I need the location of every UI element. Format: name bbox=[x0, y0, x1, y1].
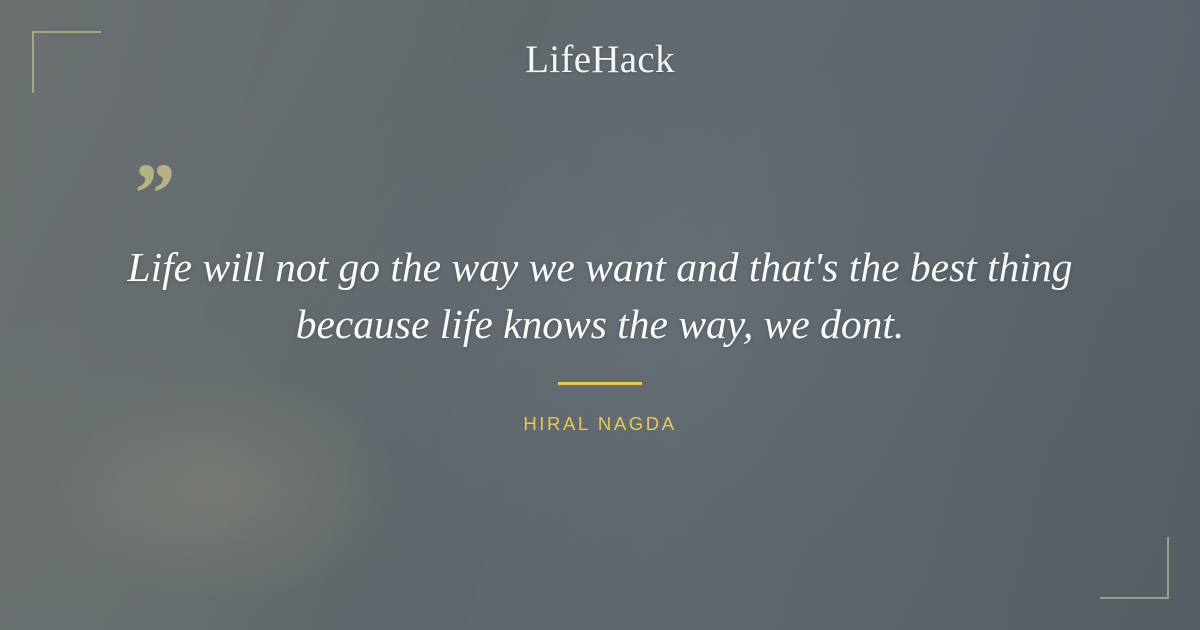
author-name: HIRAL NAGDA bbox=[0, 412, 1200, 436]
lifehack-logo: LifeHack bbox=[0, 38, 1200, 82]
quotation-mark-icon: ” bbox=[130, 150, 171, 236]
quote-line-2: because life knows the way, we dont. bbox=[100, 296, 1100, 353]
corner-bracket-bottom-right-icon bbox=[1100, 537, 1169, 599]
quote-text: Life will not go the way we want and tha… bbox=[100, 239, 1100, 353]
divider-container bbox=[0, 382, 1200, 385]
gold-divider bbox=[558, 382, 642, 385]
quote-card: LifeHack ” Life will not go the way we w… bbox=[0, 0, 1200, 630]
quote-line-1: Life will not go the way we want and tha… bbox=[100, 239, 1100, 296]
